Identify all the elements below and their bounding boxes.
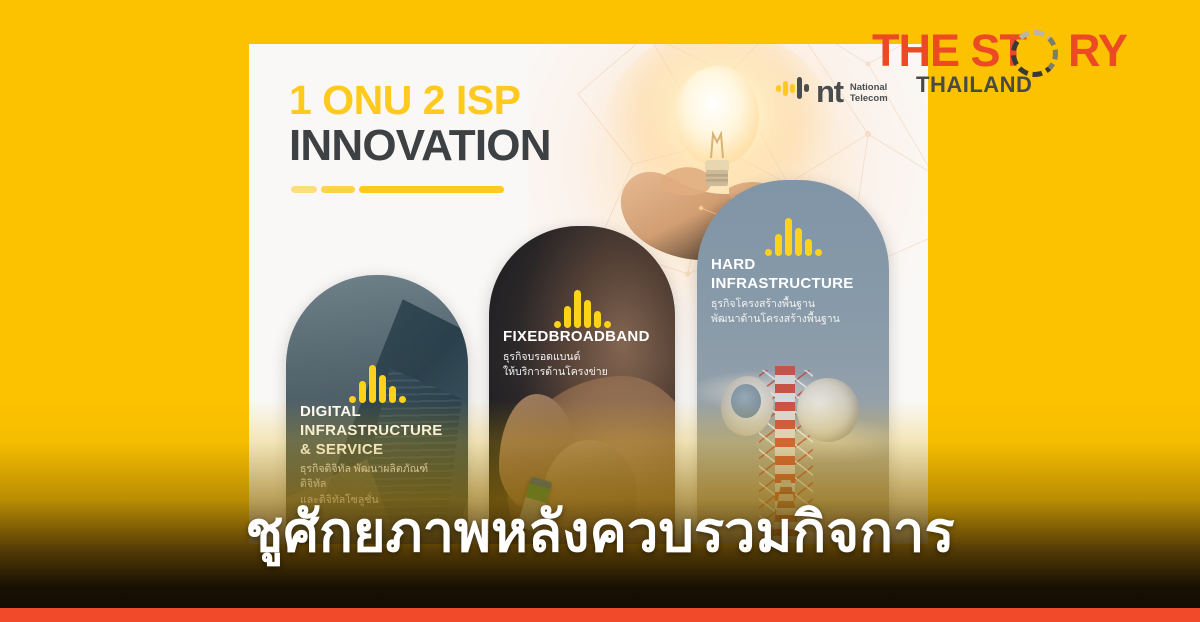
card3-subtitle: ธุรกิจโครงสร้างพื้นฐาน พัฒนาด้านโครงสร้า… xyxy=(711,297,875,327)
card-hard-infrastructure[interactable]: HARD INFRASTRUCTURE ธุรกิจโครงสร้างพื้นฐ… xyxy=(697,180,889,544)
card3-title-line2: INFRASTRUCTURE xyxy=(711,275,854,292)
page-background: 1 ONU 2 ISP INNOVATION nt National Telec… xyxy=(0,0,1200,622)
card1-title: DIGITAL INFRASTRUCTURE & SERVICE xyxy=(300,403,454,459)
poster-headline: 1 ONU 2 ISP INNOVATION xyxy=(289,79,619,170)
card2-subtitle-line2: ให้บริการด้านโครงข่าย xyxy=(503,366,608,378)
caption-headline: ชูศักยภาพหลังควบรวมกิจการ xyxy=(0,505,1200,561)
nt-soundwave-icon xyxy=(776,75,809,101)
card2-content: FIXEDBROADBAND ธุรกิจบรอดแบนด์ ให้บริการ… xyxy=(489,288,675,380)
card2-title: FIXEDBROADBAND xyxy=(503,328,661,347)
card3-title-line1: HARD xyxy=(711,256,756,273)
card2-title-line1: FIXEDBROADBAND xyxy=(503,328,650,345)
story-logo-row: THE STRY xyxy=(872,28,1122,78)
nt-soundwave-icon xyxy=(711,216,875,256)
card1-title-line3: & SERVICE xyxy=(300,441,383,458)
card3-content: HARD INFRASTRUCTURE ธุรกิจโครงสร้างพื้นฐ… xyxy=(697,216,889,327)
nt-soundwave-icon xyxy=(503,288,661,328)
card2-tint-overlay xyxy=(489,226,675,544)
bottom-accent-stripe xyxy=(0,608,1200,622)
poster-panel: 1 ONU 2 ISP INNOVATION nt National Telec… xyxy=(249,44,928,544)
thailand-label: THAILAND xyxy=(916,74,1032,96)
nt-soundwave-icon xyxy=(300,363,454,403)
dashed-circle-o-icon xyxy=(1011,30,1058,77)
card3-title: HARD INFRASTRUCTURE xyxy=(711,256,875,294)
nt-wordmark: nt xyxy=(816,76,843,107)
card3-subtitle-line2: พัฒนาด้านโครงสร้างพื้นฐาน xyxy=(711,313,840,325)
card1-subtitle-line1: ธุรกิจดิจิทัล พัฒนาผลิตภัณฑ์ดิจิทัล xyxy=(300,463,428,490)
card1-content: DIGITAL INFRASTRUCTURE & SERVICE ธุรกิจด… xyxy=(286,363,468,508)
headline-line-1: 1 ONU 2 ISP xyxy=(289,79,619,122)
card1-title-line1: DIGITAL xyxy=(300,403,361,420)
card2-subtitle-line1: ธุรกิจบรอดแบนด์ xyxy=(503,351,580,363)
card1-title-line2: INFRASTRUCTURE xyxy=(300,422,443,439)
headline-line-2: INNOVATION xyxy=(289,122,619,170)
story-logo-text: THE STRY xyxy=(872,28,1127,73)
card2-subtitle: ธุรกิจบรอดแบนด์ ให้บริการด้านโครงข่าย xyxy=(503,350,661,380)
the-story-thailand-logo[interactable]: THE STRY THAILAND xyxy=(872,28,1122,112)
headline-underline-rule xyxy=(291,186,504,193)
card-fixed-broadband[interactable]: FIXEDBROADBAND ธุรกิจบรอดแบนด์ ให้บริการ… xyxy=(489,226,675,544)
card3-subtitle-line1: ธุรกิจโครงสร้างพื้นฐาน xyxy=(711,298,815,310)
